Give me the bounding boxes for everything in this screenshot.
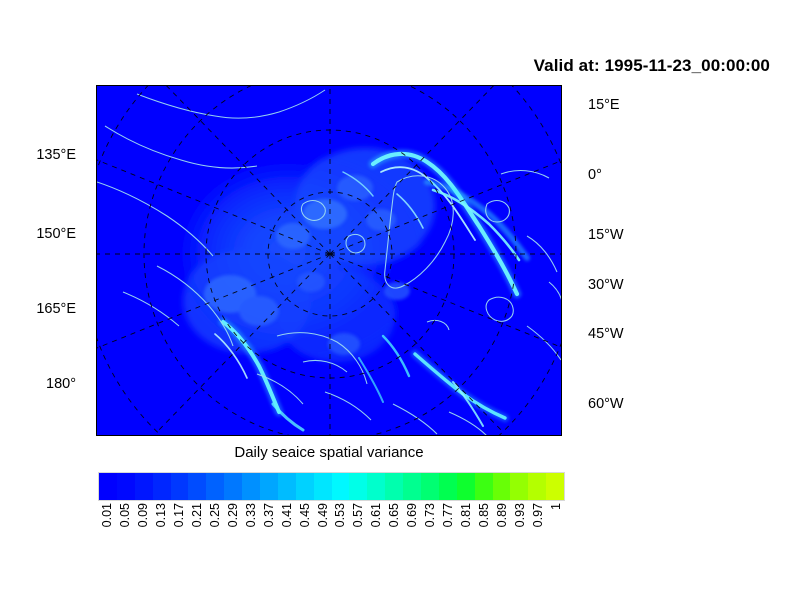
axis-label-left-150e: 150°E xyxy=(0,227,76,242)
colorbar-swatch xyxy=(260,473,278,500)
colorbar-tick-label: 0.45 xyxy=(298,503,312,527)
colorbar-tick-label: 0.09 xyxy=(136,503,150,527)
colorbar-tick-label: 0.29 xyxy=(226,503,240,527)
colorbar-swatch xyxy=(314,473,332,500)
colorbar-tick-label: 0.53 xyxy=(333,503,347,527)
colorbar-tick-label: 0.37 xyxy=(262,503,276,527)
colorbar-tick-label: 0.25 xyxy=(208,503,222,527)
colorbar-tick-label: 0.01 xyxy=(100,503,114,527)
colorbar-swatch xyxy=(421,473,439,500)
colorbar-tick-label: 0.05 xyxy=(118,503,132,527)
colorbar-tick-label: 0.93 xyxy=(513,503,527,527)
axis-label-right-15e: 15°E xyxy=(588,98,620,113)
colorbar-tick-label: 1 xyxy=(549,503,563,510)
colorbar-tick-label: 0.69 xyxy=(405,503,419,527)
colorbar[interactable] xyxy=(98,472,565,501)
colorbar-swatch xyxy=(385,473,403,500)
colorbar-swatch xyxy=(510,473,528,500)
colorbar-tick-label: 0.89 xyxy=(495,503,509,527)
colorbar-tick-label: 0.73 xyxy=(423,503,437,527)
axis-tick-left xyxy=(96,385,97,386)
colorbar-tick-label: 0.13 xyxy=(154,503,168,527)
colorbar-swatch xyxy=(349,473,367,500)
colorbar-swatch xyxy=(296,473,314,500)
colorbar-tick-label: 0.57 xyxy=(351,503,365,527)
colorbar-swatch xyxy=(475,473,493,500)
colorbar-tick-label: 0.33 xyxy=(244,503,258,527)
colorbar-swatch xyxy=(224,473,242,500)
axis-label-right-15w: 15°W xyxy=(588,228,624,243)
axis-tick-left xyxy=(96,310,97,311)
colorbar-swatch xyxy=(403,473,421,500)
colorbar-swatch xyxy=(493,473,511,500)
colorbar-swatch xyxy=(332,473,350,500)
colorbar-tick-label: 0.97 xyxy=(531,503,545,527)
axis-tick-left xyxy=(96,235,97,236)
colorbar-tick-label: 0.17 xyxy=(172,503,186,527)
colorbar-swatch xyxy=(457,473,475,500)
colorbar-swatch xyxy=(546,473,564,500)
colorbar-swatch xyxy=(278,473,296,500)
colorbar-tick-labels: 0.010.050.090.130.170.210.250.290.330.37… xyxy=(98,503,565,563)
colorbar-tick-label: 0.41 xyxy=(280,503,294,527)
polar-stereographic-map xyxy=(97,86,562,436)
axis-label-left-135e: 135°E xyxy=(0,148,76,163)
colorbar-swatch xyxy=(117,473,135,500)
colorbar-tick-label: 0.77 xyxy=(441,503,455,527)
axis-label-right-0: 0° xyxy=(588,168,602,183)
colorbar-swatch xyxy=(439,473,457,500)
colorbar-swatch xyxy=(188,473,206,500)
colorbar-swatch xyxy=(99,473,117,500)
colorbar-tick-label: 0.61 xyxy=(369,503,383,527)
map-plot-area[interactable] xyxy=(96,85,562,436)
colorbar-tick-label: 0.81 xyxy=(459,503,473,527)
axis-tick-left xyxy=(96,156,97,157)
axis-label-left-165e: 165°E xyxy=(0,302,76,317)
figure-canvas: Valid at: 1995-11-23_00:00:00 xyxy=(0,0,792,612)
axis-label-right-30w: 30°W xyxy=(588,278,624,293)
colorbar-swatch xyxy=(153,473,171,500)
colorbar-tick-label: 0.85 xyxy=(477,503,491,527)
colorbar-swatch xyxy=(528,473,546,500)
colorbar-tick-label: 0.21 xyxy=(190,503,204,527)
page-title: Valid at: 1995-11-23_00:00:00 xyxy=(0,56,770,76)
axis-label-left-180: 180° xyxy=(0,377,76,392)
colorbar-swatch xyxy=(367,473,385,500)
colorbar-caption: Daily seaice spatial variance xyxy=(96,444,562,461)
colorbar-tick-label: 0.49 xyxy=(316,503,330,527)
colorbar-swatch xyxy=(171,473,189,500)
axis-label-right-60w: 60°W xyxy=(588,397,624,412)
colorbar-swatch xyxy=(206,473,224,500)
colorbar-swatch xyxy=(242,473,260,500)
colorbar-swatch xyxy=(135,473,153,500)
axis-label-right-45w: 45°W xyxy=(588,327,624,342)
colorbar-tick-label: 0.65 xyxy=(387,503,401,527)
